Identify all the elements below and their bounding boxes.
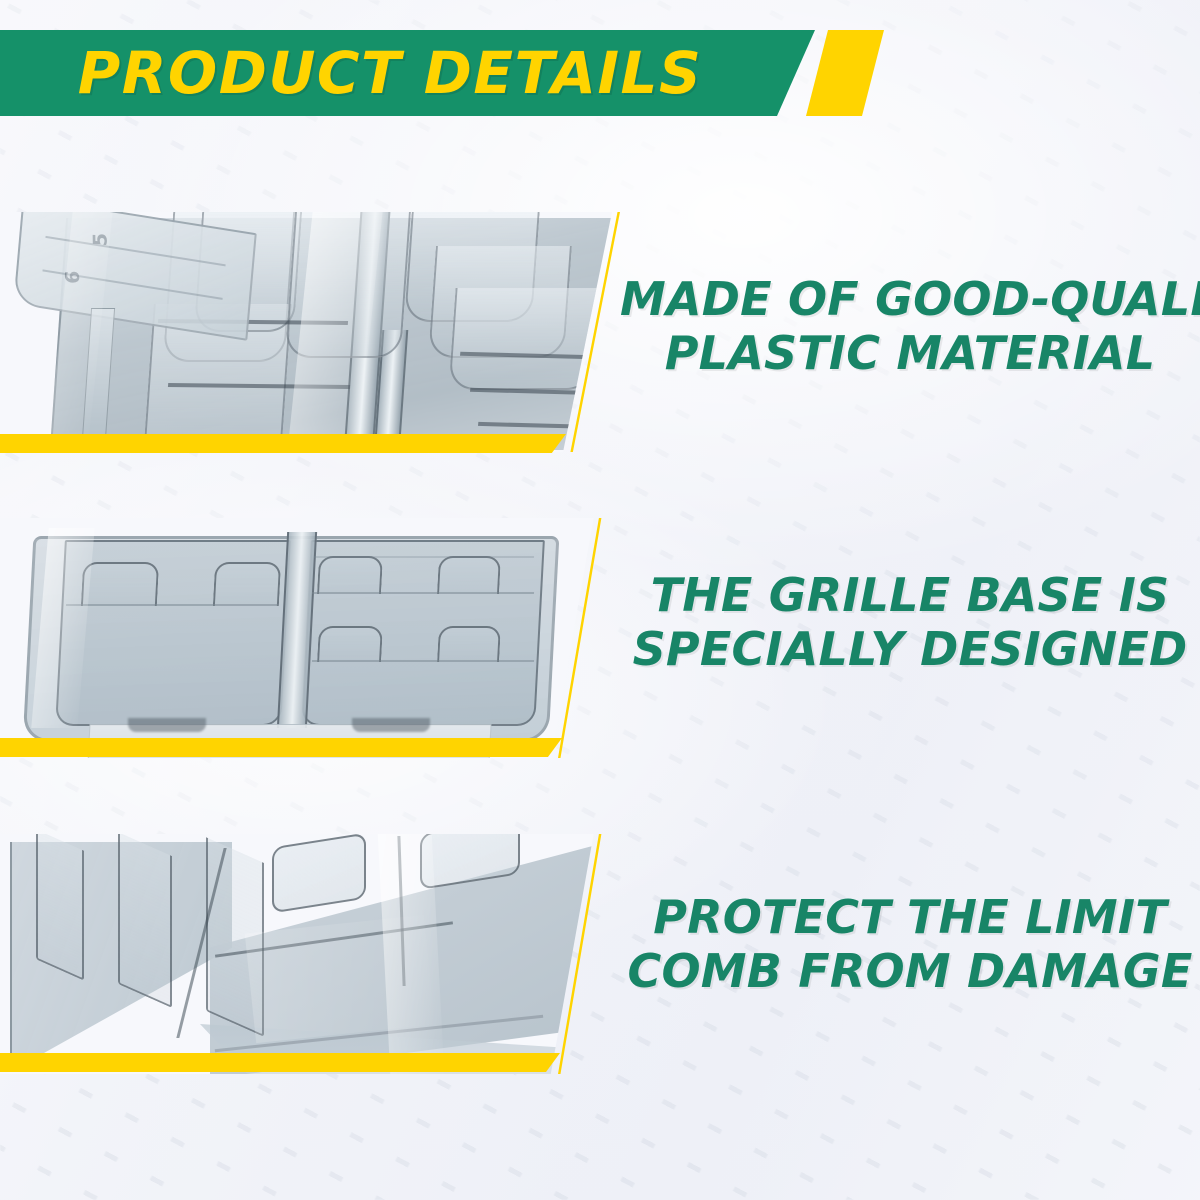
product-illustration-1: 5 6 xyxy=(0,212,612,452)
caption-material: MADE OF GOOD-QUALITY PLASTIC MATERIAL xyxy=(620,272,1200,381)
lid-embossed-mark: 5 xyxy=(90,232,112,246)
tray-shelf-line xyxy=(312,660,534,662)
product-photo-block-3 xyxy=(0,834,620,1074)
support-rib xyxy=(118,834,172,1008)
caption-line: THE GRILLE BASE IS xyxy=(620,568,1200,622)
accent-bar-3 xyxy=(0,1053,560,1072)
tray-shelf-line xyxy=(312,592,534,594)
limit-comb-notch xyxy=(213,562,281,606)
limit-comb-notch xyxy=(317,626,383,662)
organizer-lid-flap: 5 6 xyxy=(13,212,257,341)
caption-line: PROTECT THE LIMIT xyxy=(620,890,1200,944)
page-title: PRODUCT DETAILS xyxy=(0,30,780,116)
limit-comb-notch xyxy=(437,556,501,594)
limit-comb-notch xyxy=(317,556,383,594)
product-photo-3 xyxy=(0,834,612,1074)
product-illustration-3 xyxy=(0,834,612,1074)
lid-embossed-mark: 6 xyxy=(62,270,84,284)
caption-grille-base: THE GRILLE BASE IS SPECIALLY DESIGNED xyxy=(620,568,1200,677)
product-photo-block-2 xyxy=(0,518,620,758)
caption-line: COMB FROM DAMAGE xyxy=(620,944,1200,998)
product-photo-block-1: 5 6 xyxy=(0,212,620,452)
tray-foot xyxy=(352,718,430,732)
tray-shelf-line xyxy=(314,556,534,558)
lid-groove xyxy=(45,236,225,266)
limit-comb-notch xyxy=(81,562,159,606)
tray-shelf-line xyxy=(66,604,278,606)
product-illustration-2 xyxy=(0,518,612,758)
comb-slot xyxy=(448,288,599,390)
caption-limit-comb: PROTECT THE LIMIT COMB FROM DAMAGE xyxy=(620,890,1200,999)
product-photo-2 xyxy=(0,518,612,758)
accent-bar-1 xyxy=(0,434,566,453)
tray-foot xyxy=(128,718,206,732)
product-details-infographic: PRODUCT DETAILS xyxy=(0,0,1200,1200)
comb-slot xyxy=(285,212,411,358)
handle-cutout xyxy=(272,834,366,913)
caption-line: MADE OF GOOD-QUALITY xyxy=(620,272,1200,326)
support-rib xyxy=(206,837,264,1037)
accent-bar-2 xyxy=(0,738,562,757)
caption-line: PLASTIC MATERIAL xyxy=(620,326,1200,380)
product-photo-1: 5 6 xyxy=(0,212,612,452)
caption-line: SPECIALLY DESIGNED xyxy=(620,622,1200,676)
limit-comb-notch xyxy=(437,626,501,662)
support-rib xyxy=(36,834,84,981)
